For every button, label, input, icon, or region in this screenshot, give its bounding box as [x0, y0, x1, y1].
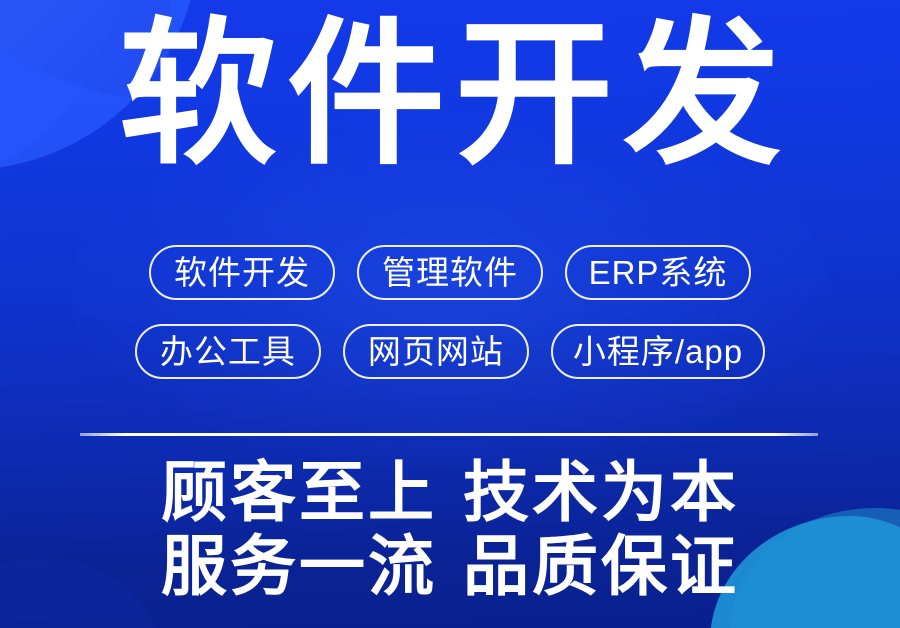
tag-list: 软件开发 管理软件 ERP系统 办公工具 网页网站 小程序/app — [0, 245, 900, 403]
tag-pill-software-development[interactable]: 软件开发 — [149, 245, 335, 300]
tag-pill-office-tools[interactable]: 办公工具 — [135, 324, 321, 379]
promo-poster: 软件开发 软件开发 管理软件 ERP系统 办公工具 网页网站 小程序/app 顾… — [0, 0, 900, 628]
slogan-block: 顾客至上技术为本 服务一流品质保证 — [0, 455, 900, 603]
slogan-1-right: 技术为本 — [463, 455, 739, 529]
slogan-line-2: 服务一流品质保证 — [0, 529, 900, 603]
tag-row-2: 办公工具 网页网站 小程序/app — [0, 324, 900, 379]
slogan-2-right: 品质保证 — [463, 529, 739, 603]
page-title: 软件开发 — [0, 6, 900, 184]
tag-row-1: 软件开发 管理软件 ERP系统 — [0, 245, 900, 300]
divider — [80, 433, 818, 436]
slogan-1-left: 顾客至上 — [161, 455, 437, 529]
poster-content: 软件开发 软件开发 管理软件 ERP系统 办公工具 网页网站 小程序/app 顾… — [0, 0, 900, 628]
slogan-line-1: 顾客至上技术为本 — [0, 455, 900, 529]
tag-pill-management-software[interactable]: 管理软件 — [357, 245, 543, 300]
slogan-2-left: 服务一流 — [161, 529, 437, 603]
tag-pill-erp-system[interactable]: ERP系统 — [565, 245, 751, 300]
tag-pill-web-site[interactable]: 网页网站 — [343, 324, 529, 379]
tag-pill-miniprogram-app[interactable]: 小程序/app — [551, 324, 765, 379]
